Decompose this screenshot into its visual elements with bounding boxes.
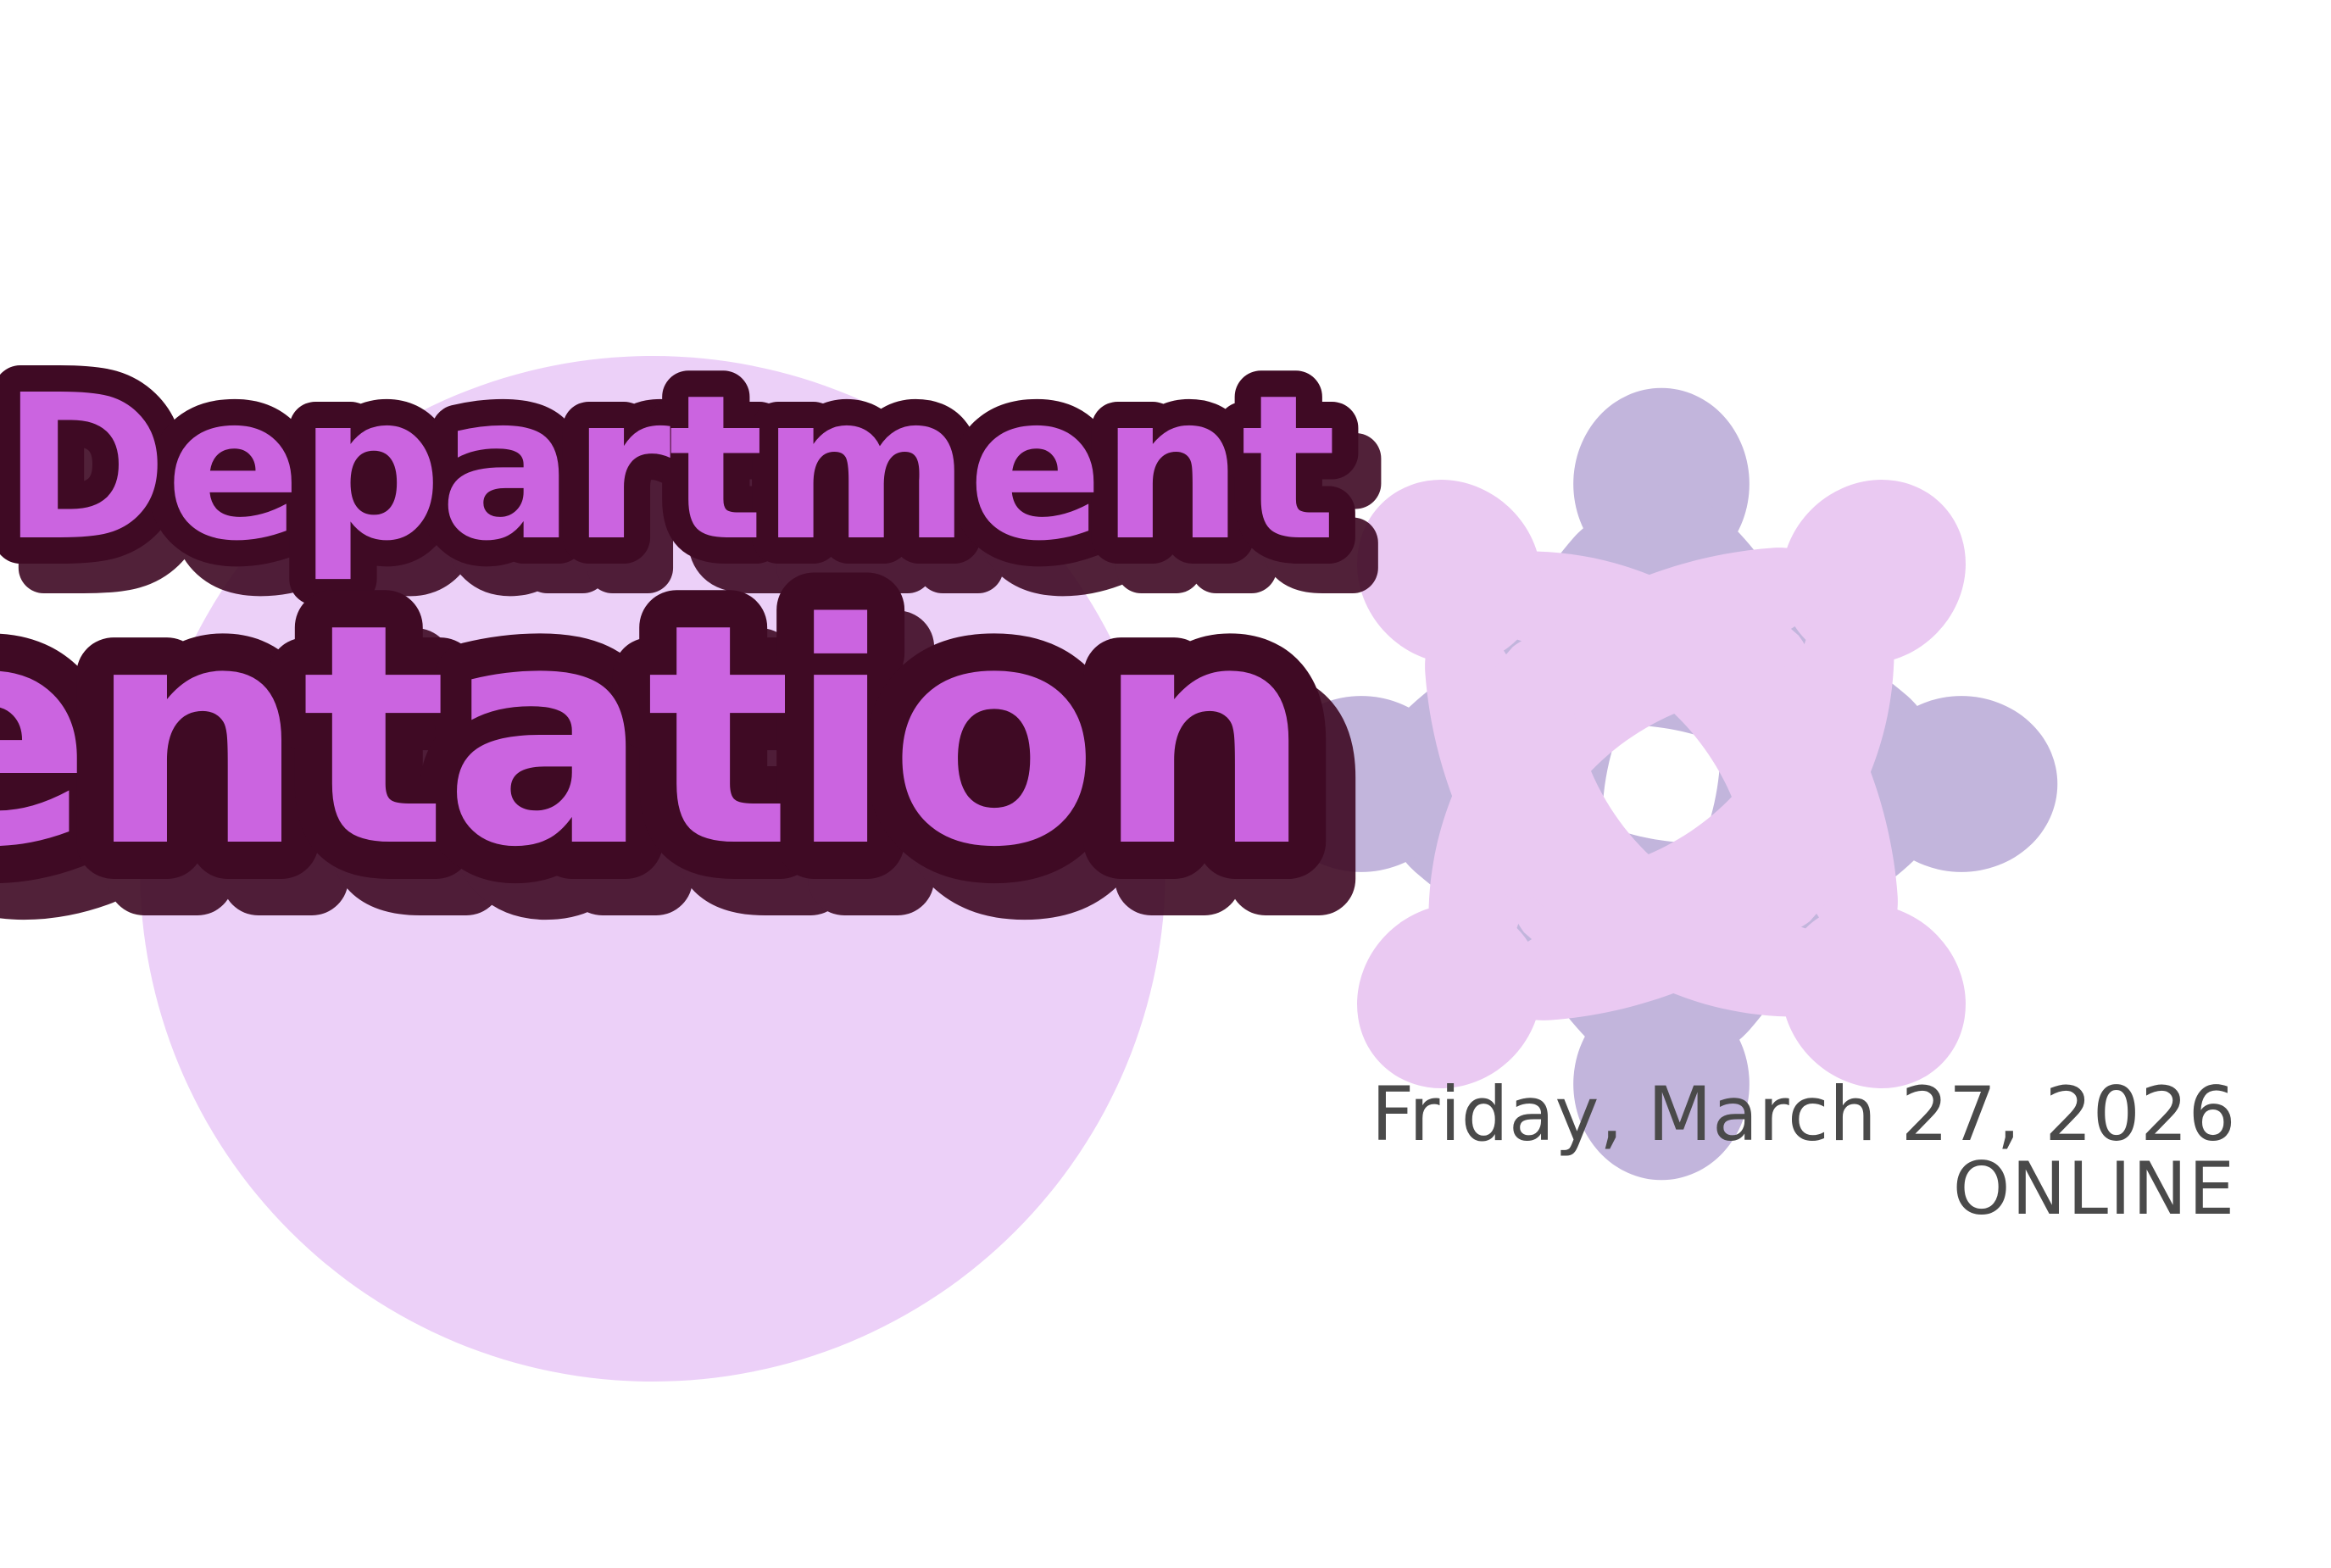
poster-canvas: Youth Department Youth Department Youth … <box>0 0 2331 1568</box>
event-mode: ONLINE <box>1049 1153 2236 1227</box>
event-details: Friday, March 27, 2026 ONLINE <box>1049 1076 2236 1226</box>
background-decoration-layer <box>0 0 2331 1568</box>
large-pale-circle <box>140 356 1165 1382</box>
event-date: Friday, March 27, 2026 <box>1049 1076 2236 1153</box>
